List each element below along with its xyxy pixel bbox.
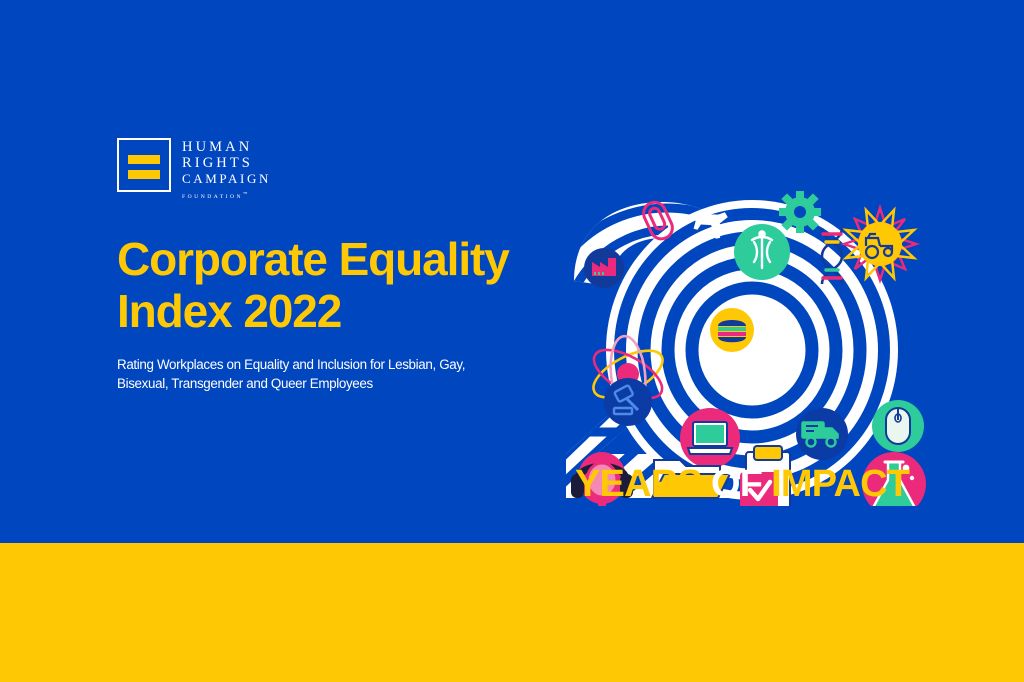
title-line-1: Corporate Equality <box>117 233 587 285</box>
caduceus-medical-icon <box>734 224 790 280</box>
anniversary-artwork <box>552 186 952 506</box>
logo-line-campaign: CAMPAIGN <box>182 171 271 187</box>
hrc-logo: HUMAN RIGHTS CAMPAIGN FOUNDATION™ <box>117 138 271 202</box>
burger-icon <box>710 308 754 352</box>
word-impact: IMPACT <box>771 463 909 505</box>
laptop-icon <box>680 408 740 468</box>
equal-bar-bottom <box>128 170 160 179</box>
word-years: YEARS <box>575 463 702 505</box>
logo-foundation-text: FOUNDATION <box>182 194 243 200</box>
years-of-impact-label: YEARSOFIMPACT <box>575 462 925 506</box>
subtitle-line-1: Rating Workplaces on Equality and Inclus… <box>117 355 537 374</box>
computer-mouse-icon <box>872 400 924 452</box>
equal-bar-top <box>128 155 160 164</box>
word-of: OF <box>711 463 762 505</box>
factory-icon <box>584 248 624 288</box>
delivery-truck-icon <box>796 408 848 460</box>
page-subtitle: Rating Workplaces on Equality and Inclus… <box>117 355 537 393</box>
yellow-footer-band <box>0 543 1024 682</box>
page-title: Corporate Equality Index 2022 <box>117 233 587 337</box>
logo-line-rights: RIGHTS <box>182 155 271 171</box>
logo-wordmark: HUMAN RIGHTS CAMPAIGN FOUNDATION™ <box>182 138 271 202</box>
trademark-symbol: ™ <box>243 191 247 196</box>
gavel-icon <box>604 378 652 426</box>
equality-mark-icon <box>117 138 171 192</box>
gear-icon <box>779 191 821 233</box>
logo-line-foundation: FOUNDATION™ <box>182 189 271 202</box>
logo-line-human: HUMAN <box>182 139 271 155</box>
subtitle-line-2: Bisexual, Transgender and Queer Employee… <box>117 374 537 393</box>
title-line-2: Index 2022 <box>117 285 587 337</box>
cover-page: HUMAN RIGHTS CAMPAIGN FOUNDATION™ Corpor… <box>0 0 1024 682</box>
